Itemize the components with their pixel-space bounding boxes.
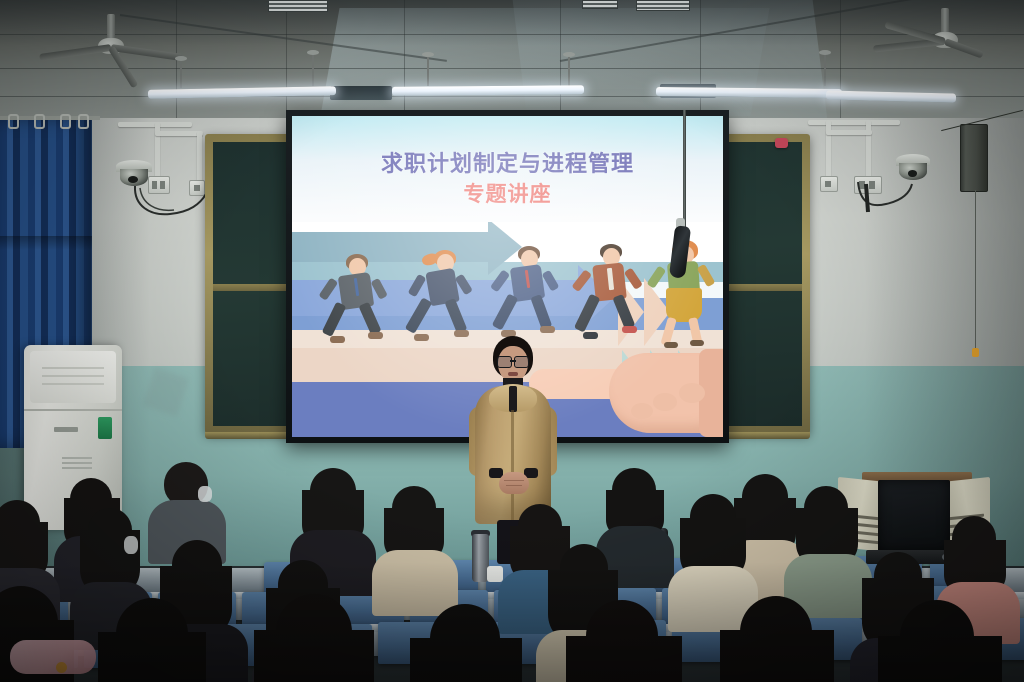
runner-shoe [622, 326, 637, 333]
audience-hair [98, 632, 206, 682]
light-drop-rod [568, 54, 570, 88]
ill-runner-5 [658, 240, 720, 344]
fan-rod [107, 14, 115, 40]
audience-hair [720, 630, 834, 682]
ill-runner-4 [582, 244, 644, 344]
runner-shoe [414, 334, 429, 341]
audience-hair [410, 638, 522, 682]
camera-cable-right [852, 178, 942, 224]
hanging-microphone-cable [683, 110, 686, 232]
white-cup[interactable] [487, 566, 503, 582]
light-drop-rod [824, 52, 826, 86]
light-drop-rod [312, 52, 314, 86]
pull-cord [975, 190, 976, 350]
ceiling-fan-right [930, 8, 960, 60]
light-drop-cap [563, 52, 575, 57]
light-drop-rod [180, 58, 182, 88]
lectern-monitor[interactable] [878, 480, 950, 552]
face-mask [198, 486, 212, 502]
electrical-conduit [197, 131, 202, 183]
curtain-ring [60, 114, 71, 129]
light-drop-rod [427, 54, 429, 86]
runner-arm [542, 270, 560, 292]
ill-runner-1 [328, 254, 390, 350]
slide-title: 求职计划制定与进程管理 [292, 146, 723, 178]
glasses-lens-left [497, 356, 512, 368]
hand-knuckle [631, 403, 653, 419]
plush-charm [56, 662, 67, 673]
hand-crease [504, 480, 524, 481]
curtain-ring [78, 114, 89, 129]
face-mask [124, 536, 138, 554]
ac-louver [42, 383, 104, 385]
audience-hair [566, 636, 682, 682]
fan-blade [39, 44, 111, 61]
ac-seam [24, 409, 122, 411]
pull-cord-tag [972, 348, 979, 357]
electrical-conduit [866, 120, 871, 178]
fan-rod [941, 8, 949, 34]
ac-top-panel [30, 351, 116, 403]
ceiling-fan-left [96, 14, 126, 64]
ac-brand-logo [54, 427, 78, 432]
hand-crease [506, 485, 522, 486]
runner-shoe [583, 332, 598, 339]
presenter-mouth [508, 372, 518, 376]
glasses-bridge [510, 360, 516, 362]
camera-cable-left [110, 182, 220, 234]
fluorescent-tube [392, 85, 584, 96]
audience-hair [254, 630, 374, 682]
ceiling [0, 0, 1024, 122]
ceiling-shadow [0, 0, 1024, 46]
electrical-conduit [826, 120, 831, 178]
blackboard-clip [775, 138, 788, 148]
audience-torso [372, 550, 458, 616]
hand-knuckle [679, 383, 705, 403]
curtain-ring [8, 114, 19, 129]
lecture-hall-photo: 求职计划制定与进程管理 专题讲座 主讲：李敏 单位：生命科学学院 2021.11… [0, 0, 1024, 682]
ceiling-vent [268, 0, 328, 12]
runner-arm [624, 267, 643, 289]
security-camera-right [896, 154, 930, 180]
fluorescent-tube [656, 87, 842, 98]
electrical-conduit [826, 130, 872, 135]
presenter-clasped-hands [499, 472, 529, 494]
runner-leg [358, 302, 381, 336]
ac-panel-text [62, 457, 92, 471]
ac-energy-label [98, 417, 112, 439]
ceiling-tile-line [0, 68, 1024, 69]
camera-lens [908, 170, 918, 177]
ill-runner-2 [414, 250, 476, 348]
electrical-box [820, 176, 838, 192]
runner-leg [530, 294, 552, 330]
light-drop-cap [422, 52, 434, 57]
electrical-conduit [155, 131, 203, 136]
pink-plush-item [10, 640, 96, 674]
hand-knuckle [653, 393, 677, 411]
wall-speaker [960, 124, 988, 192]
runner-shoe [540, 326, 555, 333]
ac-louver [42, 367, 104, 369]
light-housing [330, 86, 392, 100]
presenter-collar-notch [509, 386, 517, 412]
slide-subtitle: 专题讲座 [292, 178, 723, 208]
light-drop-cap [307, 50, 319, 55]
glasses-lens-right [514, 356, 529, 368]
light-drop-cap [819, 50, 831, 55]
runner-leg [444, 298, 467, 334]
curtain-ring [34, 114, 45, 129]
light-drop-cap [175, 56, 187, 61]
presenter-coat-placket [511, 410, 514, 522]
runner-shoe [368, 332, 383, 339]
ceiling-vent [582, 0, 618, 9]
ill-runner-3 [500, 246, 562, 344]
runner-shoe [330, 336, 345, 343]
ac-louver [42, 375, 104, 377]
socket-slot [825, 181, 831, 187]
runner-arm [371, 278, 388, 300]
electrical-conduit [808, 120, 900, 125]
runner-leg [612, 294, 635, 330]
audience-hair [878, 636, 1002, 682]
ceiling-vent [636, 0, 690, 11]
presenter-glasses [497, 356, 529, 366]
curtain-shadow [0, 236, 92, 250]
